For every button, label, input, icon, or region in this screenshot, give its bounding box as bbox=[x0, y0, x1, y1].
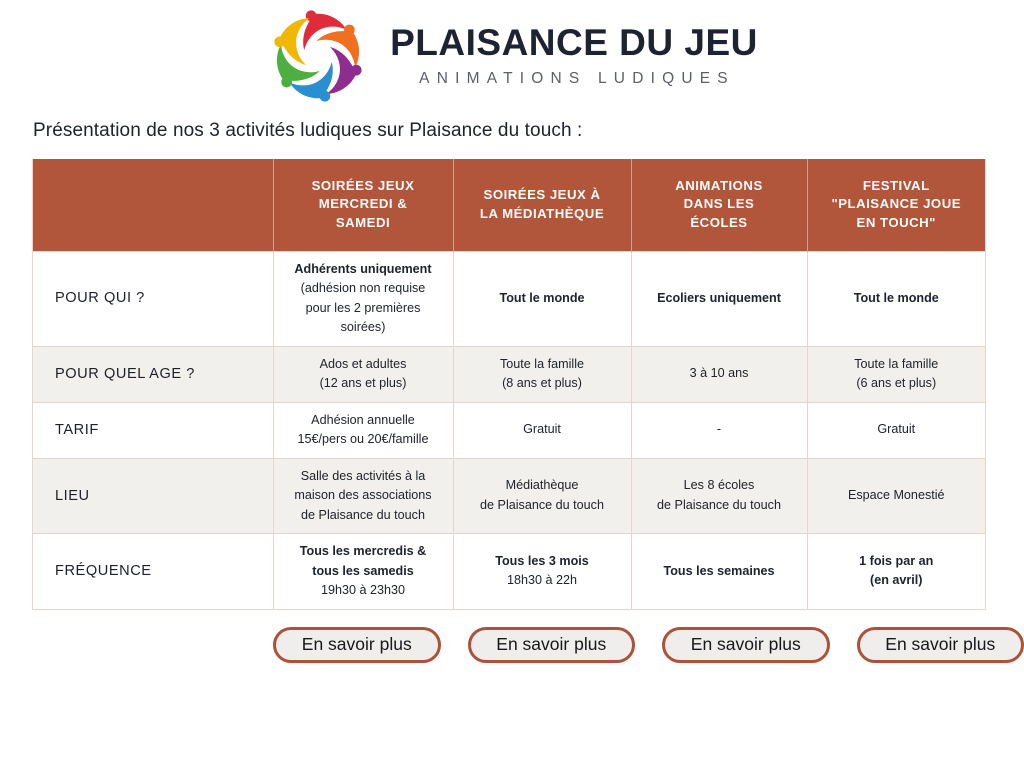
cell-sub-text: de Plaisance du touch bbox=[464, 496, 621, 516]
cell-sub-text: 18h30 à 22h bbox=[464, 571, 621, 591]
cell-sub-text: (6 ans et plus) bbox=[818, 374, 976, 394]
cell-sub-text: Salle des activités à la bbox=[284, 467, 443, 487]
column-header-festival-plaisance-joue-en-touch: FESTIVAL "PLAISANCE JOUE EN TOUCH" bbox=[807, 159, 985, 251]
cell-tarif-mediatheque: Gratuit bbox=[453, 402, 631, 458]
cell-sub-text: Ados et adultes bbox=[284, 355, 443, 375]
cell-frequence-festival: 1 fois par an (en avril) bbox=[807, 534, 985, 610]
cell-sub-text: de Plaisance du touch bbox=[284, 506, 443, 526]
table-row: TARIF Adhésion annuelle 15€/pers ou 20€/… bbox=[33, 402, 985, 458]
table-row: POUR QUI ? Adhérents uniquement (adhésio… bbox=[33, 251, 985, 346]
header-line: LA MÉDIATHÈQUE bbox=[462, 205, 623, 224]
cell-sub-text: Les 8 écoles bbox=[642, 476, 797, 496]
cell-strong-text: (en avril) bbox=[818, 571, 976, 591]
cell-sub-text: (adhésion non requise bbox=[284, 279, 443, 299]
en-savoir-plus-button-mediatheque[interactable]: En savoir plus bbox=[468, 627, 636, 663]
table-row: FRÉQUENCE Tous les mercredis & tous les … bbox=[33, 534, 985, 610]
cell-sub-text: Gratuit bbox=[818, 420, 976, 440]
cell-lieu-ecoles: Les 8 écoles de Plaisance du touch bbox=[631, 458, 807, 534]
cell-sub-text: 15€/pers ou 20€/famille bbox=[284, 430, 443, 450]
header-line: "PLAISANCE JOUE bbox=[816, 195, 978, 214]
cell-sub-text: Toute la famille bbox=[818, 355, 976, 375]
pinwheel-people-logo-icon bbox=[266, 7, 370, 105]
cell-sub-text: 3 à 10 ans bbox=[642, 364, 797, 384]
table-row: POUR QUEL AGE ? Ados et adultes (12 ans … bbox=[33, 346, 985, 402]
column-header-blank bbox=[33, 159, 273, 251]
cell-sub-text: Gratuit bbox=[464, 420, 621, 440]
header-line: FESTIVAL bbox=[816, 177, 978, 196]
en-savoir-plus-button-soirees-mercredi[interactable]: En savoir plus bbox=[273, 627, 441, 663]
cell-tarif-ecoles: - bbox=[631, 402, 807, 458]
cell-frequence-mediatheque: Tous les 3 mois 18h30 à 22h bbox=[453, 534, 631, 610]
cell-age-festival: Toute la famille (6 ans et plus) bbox=[807, 346, 985, 402]
cell-sub-text: Adhésion annuelle bbox=[284, 411, 443, 431]
column-header-animations-ecoles: ANIMATIONS DANS LES ÉCOLES bbox=[631, 159, 807, 251]
cell-age-ecoles: 3 à 10 ans bbox=[631, 346, 807, 402]
table-body: POUR QUI ? Adhérents uniquement (adhésio… bbox=[33, 251, 985, 609]
cell-strong-text: Tous les 3 mois bbox=[464, 552, 621, 572]
cell-lieu-festival: Espace Monestié bbox=[807, 458, 985, 534]
row-label-tarif: TARIF bbox=[33, 402, 273, 458]
column-header-soirees-jeux-mediatheque: SOIRÉES JEUX À LA MÉDIATHÈQUE bbox=[453, 159, 631, 251]
cell-lieu-soirees-mercredi: Salle des activités à la maison des asso… bbox=[273, 458, 453, 534]
cell-frequence-ecoles: Tous les semaines bbox=[631, 534, 807, 610]
cell-strong-text: tous les samedis bbox=[284, 562, 443, 582]
header-line: SOIRÉES JEUX À bbox=[462, 186, 623, 205]
cta-button-row: En savoir plus En savoir plus En savoir … bbox=[0, 627, 1024, 663]
cell-strong-text: Adhérents uniquement bbox=[284, 260, 443, 280]
cell-pour-qui-soirees-mercredi: Adhérents uniquement (adhésion non requi… bbox=[273, 251, 453, 346]
cell-tarif-festival: Gratuit bbox=[807, 402, 985, 458]
cell-sub-text: Toute la famille bbox=[464, 355, 621, 375]
brand-subtitle: ANIMATIONS LUDIQUES bbox=[390, 70, 758, 88]
cell-sub-text: pour les 2 premières bbox=[284, 299, 443, 319]
row-label-frequence: FRÉQUENCE bbox=[33, 534, 273, 610]
header-line: EN TOUCH" bbox=[816, 214, 978, 233]
cell-sub-text: maison des associations bbox=[284, 486, 443, 506]
header-line: SAMEDI bbox=[282, 214, 445, 233]
header-line: MERCREDI & bbox=[282, 195, 445, 214]
en-savoir-plus-button-ecoles[interactable]: En savoir plus bbox=[662, 627, 830, 663]
cell-sub-text: (8 ans et plus) bbox=[464, 374, 621, 394]
cell-lieu-mediatheque: Médiathèque de Plaisance du touch bbox=[453, 458, 631, 534]
brand-title: PLAISANCE DU JEU bbox=[390, 24, 758, 63]
cell-strong-text: Ecoliers uniquement bbox=[642, 289, 797, 309]
column-header-soirees-jeux-mercredi-samedi: SOIRÉES JEUX MERCREDI & SAMEDI bbox=[273, 159, 453, 251]
cell-sub-text: Médiathèque bbox=[464, 476, 621, 496]
cell-age-mediatheque: Toute la famille (8 ans et plus) bbox=[453, 346, 631, 402]
cell-sub-text: 19h30 à 23h30 bbox=[284, 581, 443, 601]
cell-sub-text: - bbox=[642, 420, 797, 440]
header-line: DANS LES bbox=[640, 195, 799, 214]
cell-strong-text: Tous les semaines bbox=[642, 562, 797, 582]
activities-comparison-table: SOIRÉES JEUX MERCREDI & SAMEDI SOIRÉES J… bbox=[33, 159, 985, 610]
cell-strong-text: 1 fois par an bbox=[818, 552, 976, 572]
cell-pour-qui-mediatheque: Tout le monde bbox=[453, 251, 631, 346]
header-line: ÉCOLES bbox=[640, 214, 799, 233]
table-header-row: SOIRÉES JEUX MERCREDI & SAMEDI SOIRÉES J… bbox=[33, 159, 985, 251]
cell-strong-text: Tout le monde bbox=[464, 289, 621, 309]
header-line: ANIMATIONS bbox=[640, 177, 799, 196]
en-savoir-plus-button-festival[interactable]: En savoir plus bbox=[857, 627, 1024, 663]
cell-frequence-soirees-mercredi: Tous les mercredis & tous les samedis 19… bbox=[273, 534, 453, 610]
cell-strong-text: Tous les mercredis & bbox=[284, 542, 443, 562]
activities-table-wrapper: SOIRÉES JEUX MERCREDI & SAMEDI SOIRÉES J… bbox=[32, 159, 986, 610]
cell-pour-qui-ecoles: Ecoliers uniquement bbox=[631, 251, 807, 346]
cell-sub-text: Espace Monestié bbox=[818, 486, 976, 506]
row-label-pour-qui: POUR QUI ? bbox=[33, 251, 273, 346]
header-line: SOIRÉES JEUX bbox=[282, 177, 445, 196]
table-row: LIEU Salle des activités à la maison des… bbox=[33, 458, 985, 534]
cell-sub-text: (12 ans et plus) bbox=[284, 374, 443, 394]
cell-strong-text: Tout le monde bbox=[818, 289, 976, 309]
cell-sub-text: de Plaisance du touch bbox=[642, 496, 797, 516]
row-label-lieu: LIEU bbox=[33, 458, 273, 534]
cell-tarif-soirees-mercredi: Adhésion annuelle 15€/pers ou 20€/famill… bbox=[273, 402, 453, 458]
cell-age-soirees-mercredi: Ados et adultes (12 ans et plus) bbox=[273, 346, 453, 402]
page-title: Présentation de nos 3 activités ludiques… bbox=[33, 120, 1024, 142]
brand-wordmark: PLAISANCE DU JEU ANIMATIONS LUDIQUES bbox=[390, 24, 758, 88]
cell-pour-qui-festival: Tout le monde bbox=[807, 251, 985, 346]
row-label-pour-quel-age: POUR QUEL AGE ? bbox=[33, 346, 273, 402]
brand-header: PLAISANCE DU JEU ANIMATIONS LUDIQUES bbox=[0, 0, 1024, 104]
cell-sub-text: soirées) bbox=[284, 318, 443, 338]
